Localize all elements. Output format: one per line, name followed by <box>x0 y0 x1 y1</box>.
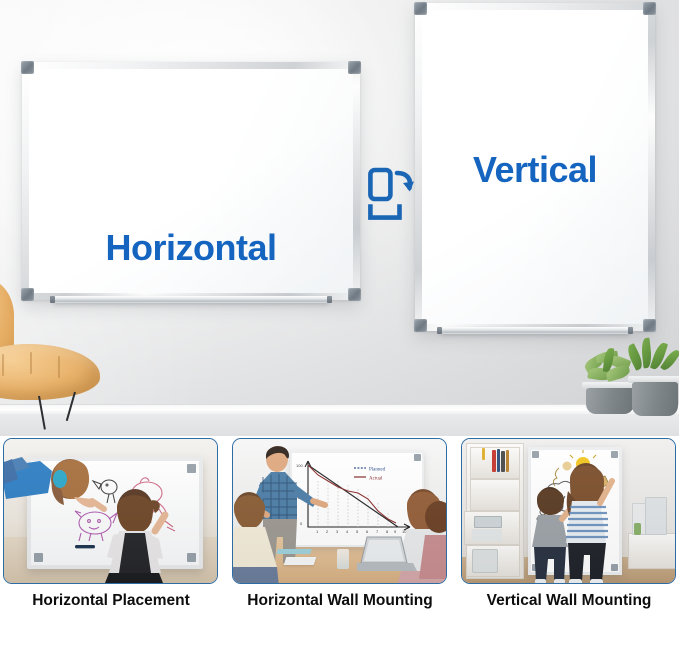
product-feature-image: Horizontal Vertical <box>0 0 679 652</box>
potted-plant-right <box>628 340 679 416</box>
laptop <box>357 535 417 579</box>
feature-panels: Horizontal Placement <box>0 436 679 652</box>
panel-vertical-wall-mounting[interactable] <box>461 438 676 584</box>
frame-corner-icon <box>348 61 361 74</box>
book <box>492 450 496 472</box>
horizontal-board-label: Horizontal <box>29 227 353 269</box>
svg-text:5: 5 <box>356 529 359 534</box>
scene-kids-drawing-flat <box>4 439 217 583</box>
side-table <box>628 533 676 569</box>
svg-text:3: 3 <box>336 529 339 534</box>
frame-corner-icon <box>21 288 34 301</box>
chair-seat <box>0 344 100 400</box>
frame-corner-icon <box>21 61 34 74</box>
caption-vertical-wall-mounting: Vertical Wall Mounting <box>455 592 679 610</box>
person-girl <box>560 461 616 584</box>
rotate-orientation-icon <box>368 167 414 221</box>
scene-kids-vertical-board <box>462 439 675 583</box>
notebook <box>276 549 312 554</box>
plant-pot <box>632 382 678 416</box>
person-attendee-left <box>232 489 285 584</box>
pencil <box>482 448 485 460</box>
pen-tray <box>440 327 630 334</box>
svg-text:7: 7 <box>376 529 379 534</box>
frame-corner-icon <box>643 319 656 332</box>
book <box>497 449 500 472</box>
caption-horizontal-wall-mounting: Horizontal Wall Mounting <box>226 592 454 610</box>
frame-corner-icon <box>414 319 427 332</box>
horizontal-whiteboard[interactable]: Horizontal <box>22 62 360 300</box>
storage-box <box>474 516 502 528</box>
glass <box>337 549 349 569</box>
storage-box <box>472 549 498 573</box>
shelf-row <box>470 479 520 511</box>
person-child-sitting <box>99 487 179 584</box>
panel-horizontal-wall-mounting[interactable]: Planned Actual 123 456 789 10 100500 <box>232 438 447 584</box>
svg-text:Actual: Actual <box>369 477 383 482</box>
vertical-board-label: Vertical <box>422 149 648 191</box>
scene-presenter-meeting: Planned Actual 123 456 789 10 100500 <box>233 439 446 583</box>
accent-chair <box>0 318 104 422</box>
picture-frame <box>645 497 667 535</box>
paper-sheet <box>284 557 317 565</box>
plant-pot <box>586 388 634 414</box>
caption-horizontal-placement: Horizontal Placement <box>0 592 225 610</box>
svg-text:4: 4 <box>346 529 349 534</box>
hero-room-scene: Horizontal Vertical <box>0 0 679 436</box>
small-plant <box>634 523 641 535</box>
vertical-whiteboard[interactable]: Vertical <box>415 3 655 331</box>
frame-corner-icon <box>643 2 656 15</box>
panel-horizontal-placement[interactable] <box>3 438 218 584</box>
svg-text:6: 6 <box>366 529 369 534</box>
pen-tray <box>53 296 329 303</box>
frame-corner-icon <box>348 288 361 301</box>
person-attendee-far-right <box>419 499 447 584</box>
book <box>501 451 505 472</box>
svg-text:8: 8 <box>386 529 389 534</box>
svg-text:Planned: Planned <box>369 468 386 473</box>
frame-corner-icon <box>414 2 427 15</box>
magazine-stack <box>472 529 502 541</box>
book <box>506 450 509 472</box>
